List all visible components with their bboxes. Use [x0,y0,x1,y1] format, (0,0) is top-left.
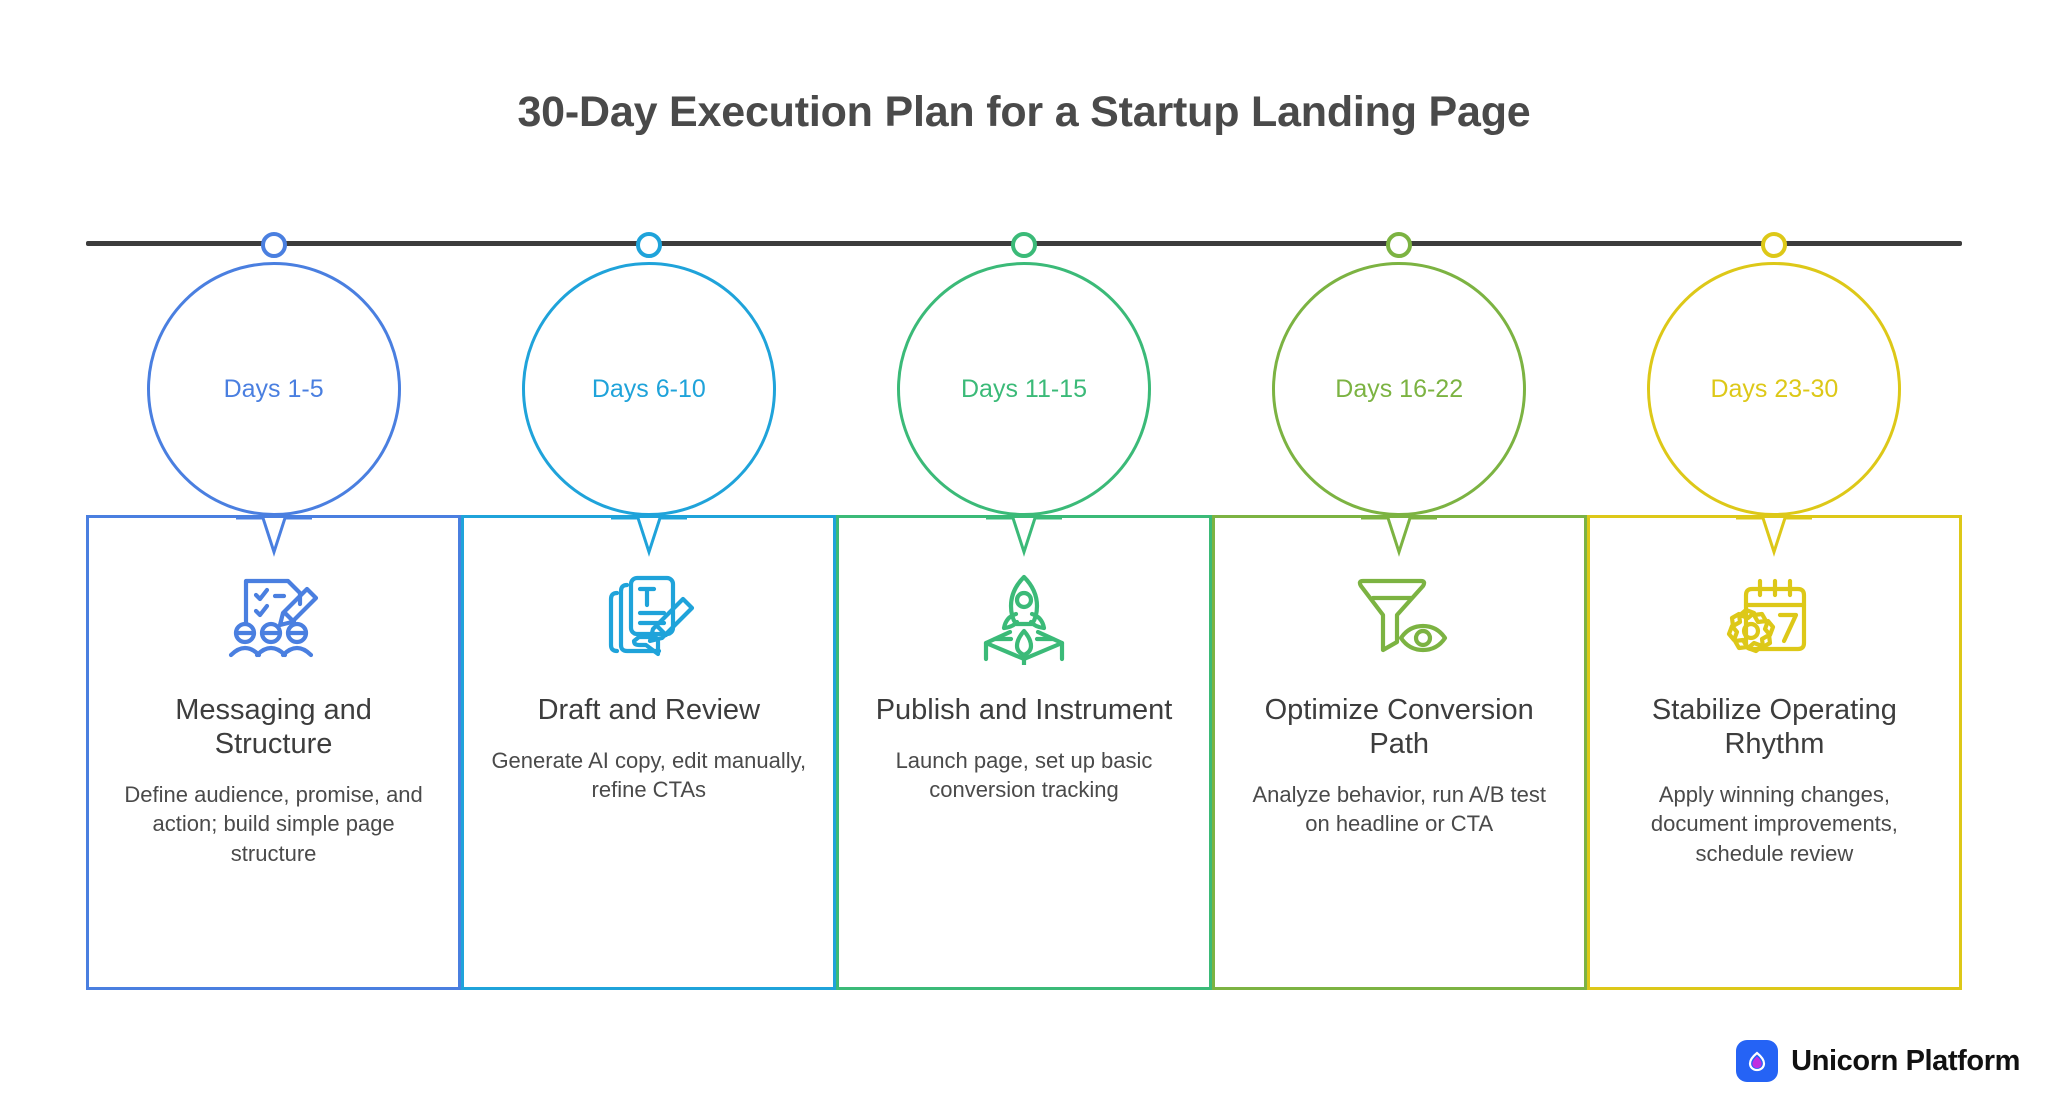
unicorn-platform-mark-icon [1736,1040,1778,1082]
stage-card-desc-5: Apply winning changes, document improvem… [1592,780,1956,868]
stage-card-title-1: Messaging and Structure [112,694,436,762]
checklist-people-icon [220,570,328,666]
card-notch-2 [611,515,687,555]
timeline-node-dot-2 [636,232,662,258]
timeline-stage-4: Days 16-22 Optimize Conversion Path Anal… [1212,200,1587,990]
page-title: 30-Day Execution Plan for a Startup Land… [0,88,2048,137]
stage-card-title-3: Publish and Instrument [864,694,1185,728]
stage-card-desc-3: Launch page, set up basic conversion tra… [842,746,1206,805]
card-notch-4 [1361,515,1437,555]
brand-name: Unicorn Platform [1791,1045,2020,1078]
days-circle-2: Days 6-10 [522,262,776,516]
stage-card-1[interactable]: Messaging and Structure Define audience,… [86,515,461,990]
card-notch-1 [236,515,312,555]
stage-card-desc-2: Generate AI copy, edit manually, refine … [467,746,831,805]
funnel-eye-icon [1345,570,1453,666]
card-notch-5 [1736,515,1812,555]
days-label-3: Days 11-15 [961,375,1087,404]
stage-card-3[interactable]: Publish and Instrument Launch page, set … [836,515,1211,990]
card-notch-3 [986,515,1062,555]
stage-card-5[interactable]: Stabilize Operating Rhythm Apply winning… [1587,515,1962,990]
stage-card-desc-1: Define audience, promise, and action; bu… [92,780,456,868]
days-circle-4: Days 16-22 [1272,262,1526,516]
rocket-launch-icon [970,570,1078,666]
days-circle-3: Days 11-15 [897,262,1151,516]
days-label-2: Days 6-10 [592,375,706,404]
timeline-stage-2: Days 6-10 [461,200,836,990]
timeline-node-dot-4 [1386,232,1412,258]
days-label-5: Days 23-30 [1710,375,1838,404]
days-label-1: Days 1-5 [224,375,324,404]
stage-card-title-5: Stabilize Operating Rhythm [1612,694,1936,762]
timeline-node-dot-5 [1761,232,1787,258]
brand-logo: Unicorn Platform [1736,1040,2020,1082]
calendar-gear-icon [1720,570,1828,666]
stage-card-4[interactable]: Optimize Conversion Path Analyze behavio… [1212,515,1587,990]
stage-card-title-2: Draft and Review [526,694,772,728]
stage-card-title-4: Optimize Conversion Path [1237,694,1561,762]
timeline-node-dot-3 [1011,232,1037,258]
stage-card-2[interactable]: Draft and Review Generate AI copy, edit … [461,515,836,990]
timeline-stages: Days 1-5 [86,200,1962,990]
timeline-stage-3: Days 11-15 [836,200,1211,990]
documents-pencil-icon [595,570,703,666]
days-label-4: Days 16-22 [1335,375,1463,404]
timeline-stage-5: Days 23-30 Stabilize Operating R [1587,200,1962,990]
days-circle-5: Days 23-30 [1647,262,1901,516]
timeline-stage-1: Days 1-5 [86,200,461,990]
days-circle-1: Days 1-5 [147,262,401,516]
stage-card-desc-4: Analyze behavior, run A/B test on headli… [1217,780,1581,839]
timeline-node-dot-1 [261,232,287,258]
